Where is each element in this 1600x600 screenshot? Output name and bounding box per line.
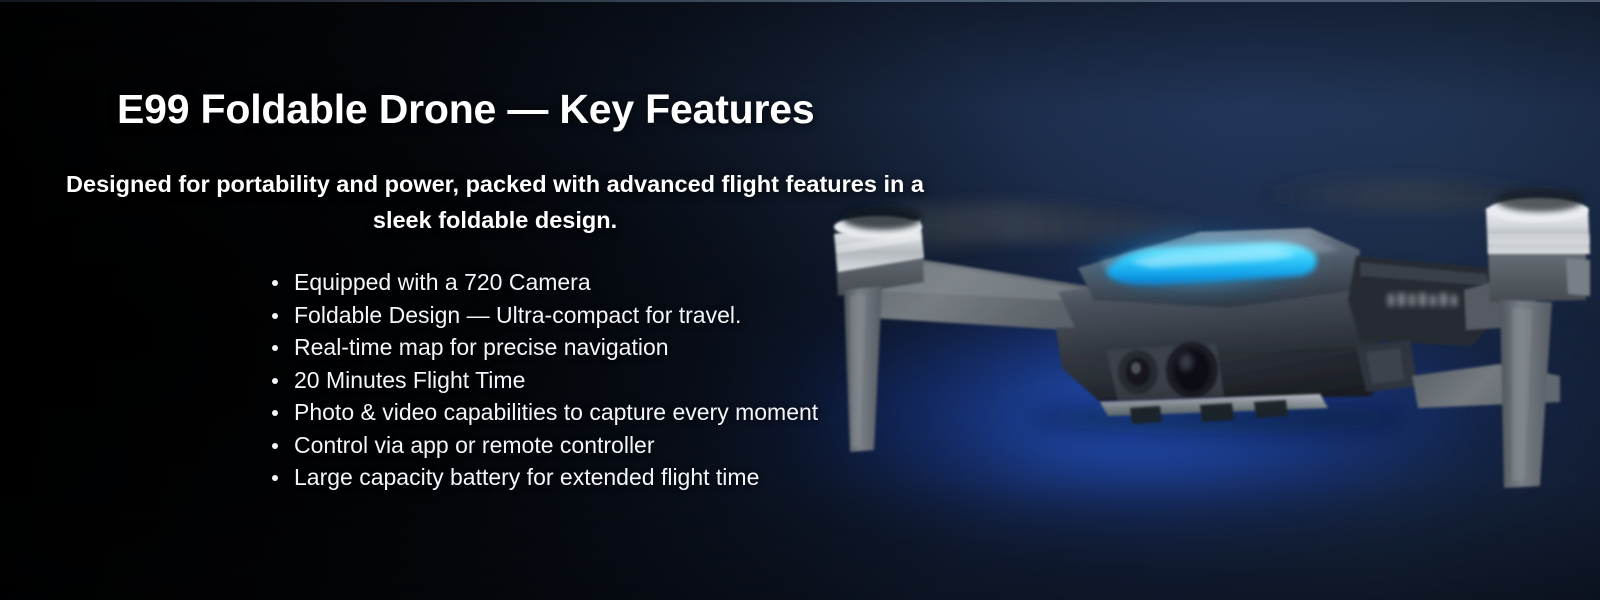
body-branding-text: [1388, 293, 1457, 306]
bullet-icon: [272, 410, 278, 416]
list-item: Photo & video capabilities to capture ev…: [270, 396, 818, 429]
subheadline: Designed for portability and power, pack…: [60, 166, 930, 238]
bullet-icon: [272, 443, 278, 449]
feature-text: Control via app or remote controller: [294, 432, 655, 458]
feature-text: Foldable Design — Ultra-compact for trav…: [294, 302, 741, 328]
bullet-icon: [272, 378, 278, 384]
list-item: Equipped with a 720 Camera: [270, 266, 818, 299]
feature-text: Equipped with a 720 Camera: [294, 269, 591, 295]
bullet-icon: [272, 313, 278, 319]
feature-text: 20 Minutes Flight Time: [294, 367, 525, 393]
feature-text: Large capacity battery for extended flig…: [294, 464, 759, 490]
product-feature-banner: E99 Foldable Drone — Key Features Design…: [0, 0, 1600, 600]
list-item: Control via app or remote controller: [270, 429, 818, 462]
list-item: Foldable Design — Ultra-compact for trav…: [270, 299, 818, 332]
bullet-icon: [272, 345, 278, 351]
list-item: Real-time map for precise navigation: [270, 331, 818, 364]
list-item: Large capacity battery for extended flig…: [270, 461, 818, 494]
top-edge-highlight: [0, 0, 1600, 2]
list-item: 20 Minutes Flight Time: [270, 364, 818, 397]
feature-list: Equipped with a 720 Camera Foldable Desi…: [270, 266, 818, 494]
page-title: E99 Foldable Drone — Key Features: [117, 86, 814, 133]
feature-text: Photo & video capabilities to capture ev…: [294, 399, 818, 425]
bullet-icon: [272, 475, 278, 481]
bullet-icon: [272, 280, 278, 286]
gimbal-camera: [1106, 342, 1224, 402]
feature-text: Real-time map for precise navigation: [294, 334, 669, 360]
